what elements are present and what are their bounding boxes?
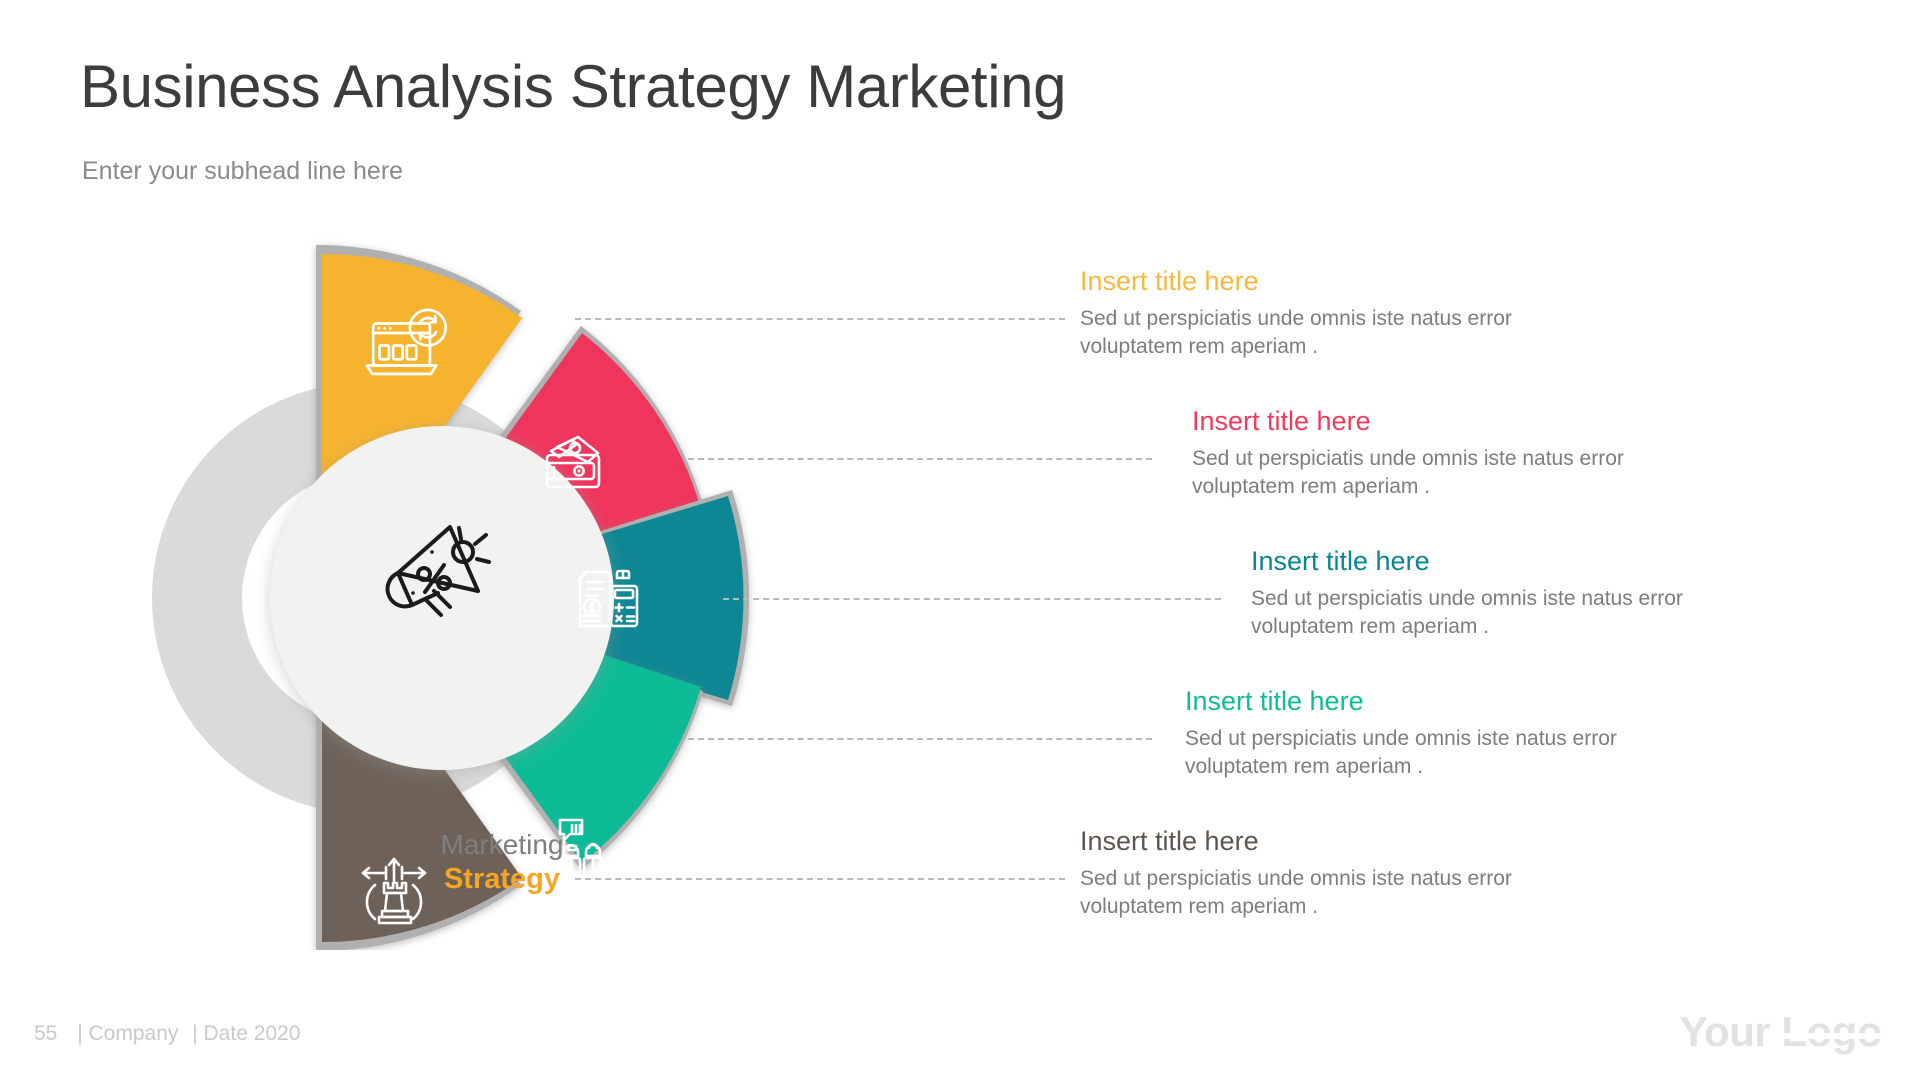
info-item-5[interactable]: Insert title here Sed ut perspiciatis un… [1080,825,1512,921]
info-item-3-body: Sed ut perspiciatis unde omnis iste natu… [1251,585,1683,640]
page-subtitle: Enter your subhead line here [82,157,403,186]
info-item-4-title: Insert title here [1185,685,1617,717]
info-item-1-title: Insert title here [1080,265,1512,297]
footer: 55 | Company | Date 2020 [34,1022,300,1046]
connector-line-1 [575,318,1065,320]
info-item-4[interactable]: Insert title here Sed ut perspiciatis un… [1185,685,1617,781]
pie-chart-svg [140,230,760,950]
info-item-3-title: Insert title here [1251,545,1683,577]
info-item-4-body: Sed ut perspiciatis unde omnis iste natu… [1185,725,1617,780]
footer-company: | Company [77,1022,178,1045]
info-item-2-body: Sed ut perspiciatis unde omnis iste natu… [1192,445,1624,500]
info-item-2-title: Insert title here [1192,405,1624,437]
info-item-3[interactable]: Insert title here Sed ut perspiciatis un… [1251,545,1683,641]
footer-page-number: 55 [34,1022,71,1045]
logo-text-part1: Your [1680,1008,1782,1055]
info-item-1-body: Sed ut perspiciatis unde omnis iste natu… [1080,305,1512,360]
connector-line-5 [575,878,1065,880]
info-item-5-title: Insert title here [1080,825,1512,857]
info-item-1[interactable]: Insert title here Sed ut perspiciatis un… [1080,265,1512,361]
info-item-2[interactable]: Insert title here Sed ut perspiciatis un… [1192,405,1624,501]
pie-infographic: Marketing Strategy [140,230,760,950]
connector-line-2 [688,458,1152,460]
company-logo: Your Logo [1680,1008,1882,1056]
info-item-5-body: Sed ut perspiciatis unde omnis iste natu… [1080,865,1512,920]
footer-date: | Date 2020 [192,1022,300,1045]
logo-text-part2: Logo [1781,1008,1882,1056]
page-title: Business Analysis Strategy Marketing [80,52,1066,121]
connector-line-4 [688,738,1152,740]
connector-line-3 [723,598,1221,600]
